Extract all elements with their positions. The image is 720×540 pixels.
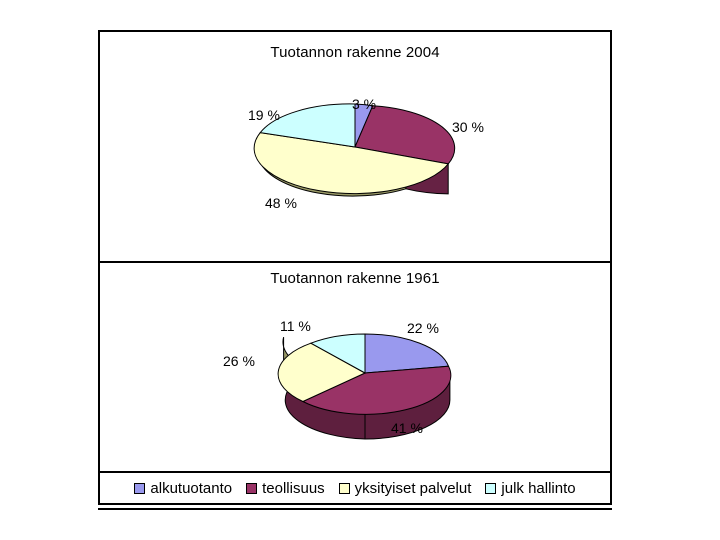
pie-2004-label-julk-hallinto: 19 %: [248, 107, 280, 123]
legend-swatch-julk-hallinto: [485, 483, 496, 494]
legend-item-yksityiset-palvelut[interactable]: yksityiset palvelut: [339, 481, 472, 496]
legend-label-alkutuotanto: alkutuotanto: [150, 481, 232, 496]
chart-panel-1961: Tuotannon rakenne 1961: [100, 263, 610, 473]
pie-1961-label-julk-hallinto: 11 %: [280, 318, 311, 334]
pie-2004-label-teollisuus: 30 %: [452, 119, 484, 135]
figure-frame: Tuotannon rakenne 2004 19 %: [98, 30, 612, 505]
legend-label-yksityiset-palvelut: yksityiset palvelut: [355, 481, 472, 496]
pie-2004-label-alkutuotanto: 3 %: [352, 96, 376, 112]
pie-2004-label-yksityiset-palvelut: 48 %: [265, 195, 297, 211]
chart-legend: alkutuotanto teollisuus yksityiset palve…: [100, 473, 610, 503]
pie-1961-label-yksityiset-palvelut: 26 %: [223, 353, 255, 369]
pie-stage-1961: 11 % 22 % 26 % 41 %: [100, 263, 610, 471]
legend-item-julk-hallinto[interactable]: julk hallinto: [485, 481, 575, 496]
chart-panel-2004: Tuotannon rakenne 2004 19 %: [100, 32, 610, 263]
legend-swatch-yksityiset-palvelut: [339, 483, 350, 494]
pie-chart-1961: [250, 315, 480, 445]
legend-swatch-teollisuus: [246, 483, 257, 494]
pie-1961-label-teollisuus: 41 %: [391, 420, 423, 436]
legend-item-teollisuus[interactable]: teollisuus: [246, 481, 325, 496]
legend-item-alkutuotanto[interactable]: alkutuotanto: [134, 481, 232, 496]
legend-label-julk-hallinto: julk hallinto: [501, 481, 575, 496]
legend-swatch-alkutuotanto: [134, 483, 145, 494]
pie-1961-label-alkutuotanto: 22 %: [407, 320, 439, 336]
pie-stage-2004: 19 % 3 % 30 % 48 %: [100, 32, 610, 261]
legend-label-teollisuus: teollisuus: [262, 481, 325, 496]
figure-underline: [98, 508, 612, 510]
